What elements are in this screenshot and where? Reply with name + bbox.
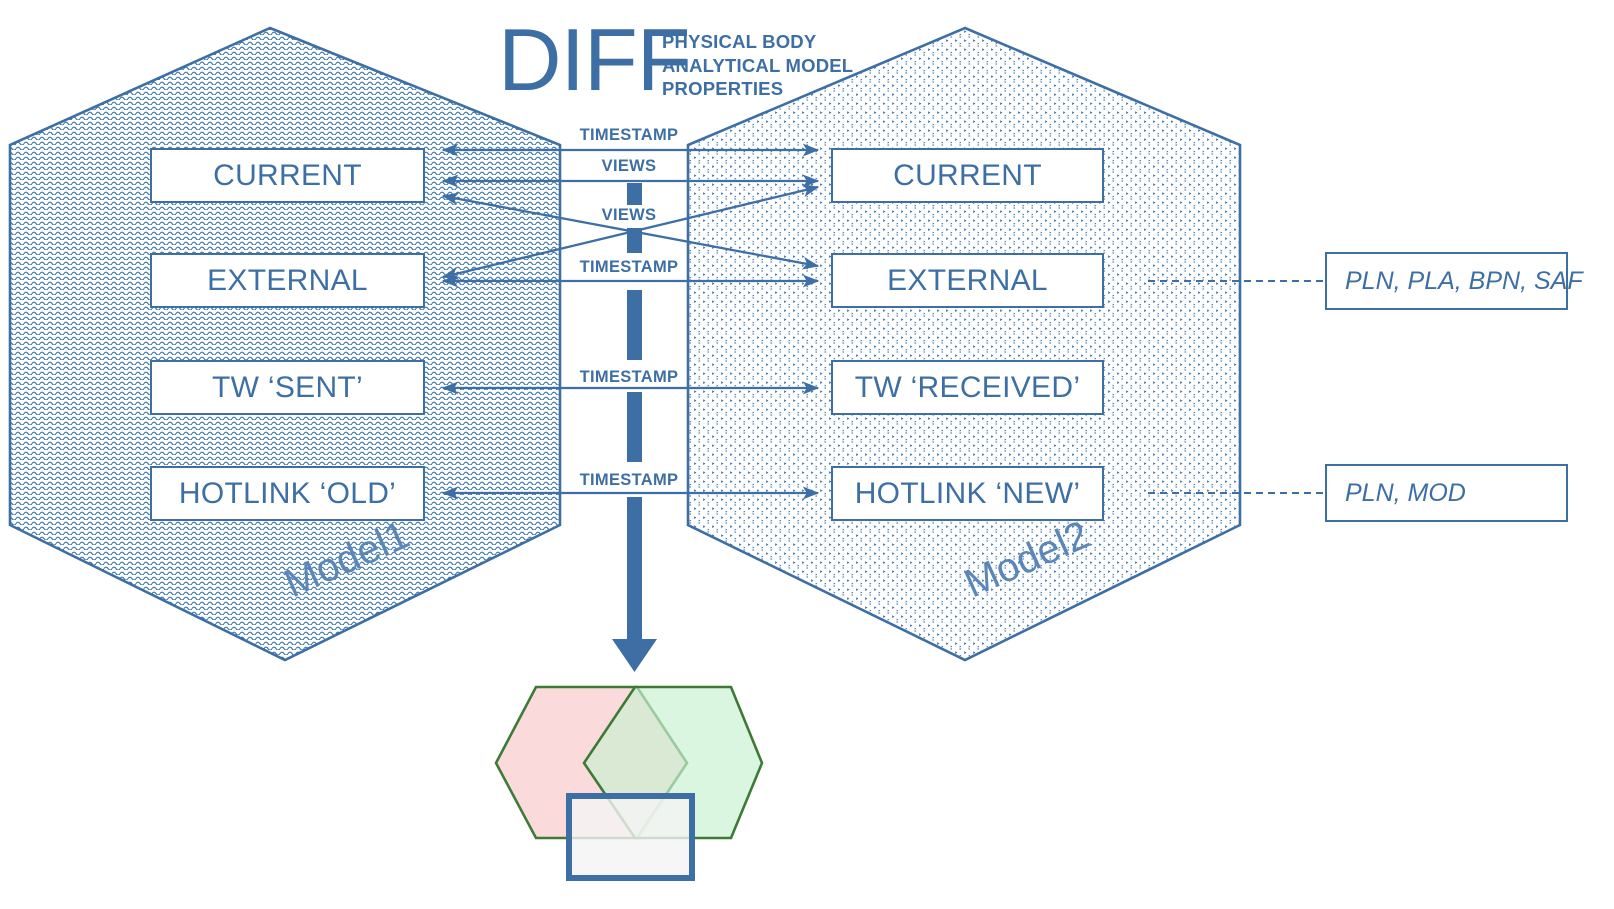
model1-node-tw-sent[interactable]: TW ‘SENT’ [150, 360, 425, 415]
edge-label-timestamp-1: TIMESTAMP [534, 126, 724, 145]
model1-node-hotlink-old[interactable]: HOTLINK ‘OLD’ [150, 466, 425, 521]
model2-node-hotlink-new[interactable]: HOTLINK ‘NEW’ [831, 466, 1104, 521]
page-subtitle: PHYSICAL BODY ANALYTICAL MODEL PROPERTIE… [662, 30, 922, 101]
model1-node-current[interactable]: CURRENT [150, 148, 425, 203]
edge-label-views-2: VIEWS [534, 206, 724, 225]
model2-node-external[interactable]: EXTERNAL [831, 253, 1104, 308]
edge-label-views-1: VIEWS [534, 157, 724, 176]
property-callout-external[interactable]: PLN, PLA, BPN, SAF [1325, 252, 1568, 310]
venn-overlay-rect [569, 796, 692, 878]
edge-label-timestamp-hotlink: TIMESTAMP [534, 471, 724, 490]
model2-node-current[interactable]: CURRENT [831, 148, 1104, 203]
subtitle-line-2: ANALYTICAL MODEL [662, 54, 922, 78]
edge-label-timestamp-2: TIMESTAMP [534, 258, 724, 277]
subtitle-line-3: PROPERTIES [662, 77, 922, 101]
page-title: DIFF [498, 16, 690, 104]
edge-label-timestamp-tw: TIMESTAMP [534, 368, 724, 387]
subtitle-line-1: PHYSICAL BODY [662, 30, 922, 54]
diff-down-arrow [612, 183, 657, 672]
property-callout-hotlink[interactable]: PLN, MOD [1325, 464, 1568, 522]
diagram-svg [0, 0, 1614, 909]
model1-node-external[interactable]: EXTERNAL [150, 253, 425, 308]
diagram-canvas: DIFF PHYSICAL BODY ANALYTICAL MODEL PROP… [0, 0, 1614, 909]
model2-node-tw-received[interactable]: TW ‘RECEIVED’ [831, 360, 1104, 415]
